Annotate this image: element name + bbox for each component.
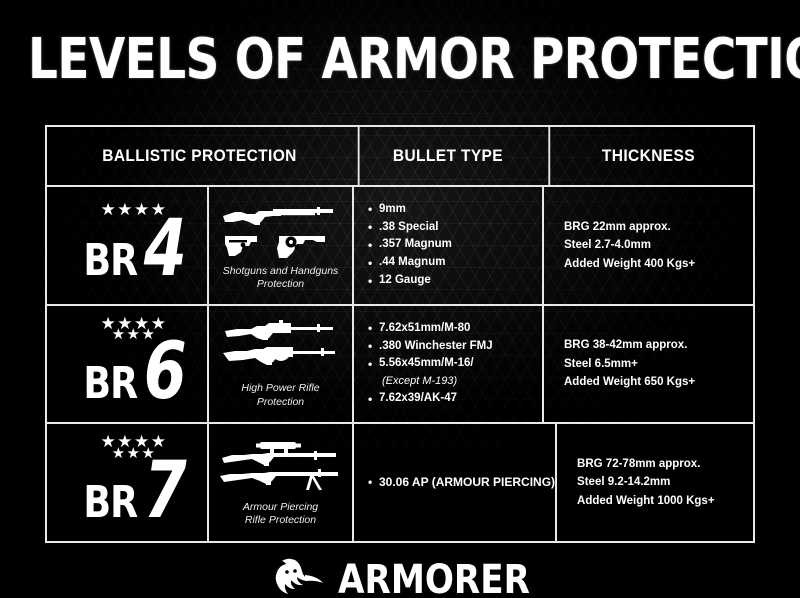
bullet-type-list: 7.62x51mm/M-80 .380 Winchester FMJ 5.56x… (368, 320, 542, 408)
list-item-note: (Except M-193) (368, 373, 542, 390)
br-level-label: BR 7 (81, 460, 187, 528)
weapon-caption-line1: Armour Piercing (243, 501, 318, 514)
list-item: 30.06 AP (ARMOUR PIERCING) (368, 473, 555, 492)
weapon-caption-line2: Rifle Protection (243, 514, 318, 527)
bullet-type-list: 30.06 AP (ARMOUR PIERCING) (368, 473, 555, 492)
column-header-bullet-type: BULLET TYPE (358, 127, 537, 185)
list-item: .357 Magnum (368, 236, 542, 254)
list-item: 9mm (368, 201, 542, 219)
br-level-number: 4 (144, 218, 184, 282)
column-header-thickness: THICKNESS (548, 127, 746, 185)
weapon-caption: Shotguns and Handguns Protection (223, 265, 339, 291)
list-item: 7.62x51mm/M-80 (368, 320, 542, 338)
thickness-cell: BRG 38-42mm approx. Steel 6.5mm+ Added W… (542, 306, 753, 423)
thickness-line: Steel 2.7-4.0mm (564, 236, 753, 254)
page-title: LEVELS OF ARMOR PROTECTION (28, 32, 772, 88)
list-item: .380 Winchester FMJ (368, 338, 542, 356)
column-header-ballistic-protection: BALLISTIC PROTECTION (56, 127, 343, 185)
br-level-number: 7 (144, 460, 184, 524)
thickness-line: Added Weight 650 Kgs+ (564, 373, 753, 391)
br-level-number: 6 (144, 341, 184, 405)
lion-head-icon (265, 557, 327, 598)
list-item: 7.62x39/AK-47 (368, 390, 542, 408)
weapon-illustration-cell: Armour Piercing Rifle Protection (207, 424, 352, 541)
weapon-illustration-cell: High Power Rifle Protection (207, 306, 352, 423)
bullet-type-cell: 9mm .38 Special .357 Magnum .44 Magnum 1… (352, 187, 542, 304)
rating-block: ★★★★ ★★★ BR 6 (47, 319, 207, 410)
bullet-type-list: 9mm .38 Special .357 Magnum .44 Magnum 1… (368, 201, 542, 290)
thickness-line: Added Weight 1000 Kgs+ (577, 492, 753, 510)
table-row: ★★★★ ★★★ BR 7 (47, 424, 753, 541)
thickness-line: BRG 22mm approx. (564, 218, 753, 236)
table-row: ★★★★ ★★★ BR 6 (47, 306, 753, 425)
weapon-caption-line1: Shotguns and Handguns (223, 265, 339, 278)
table-row: ★★★★ BR 4 (47, 187, 753, 306)
sniper-rifle-icon (218, 438, 343, 496)
list-item: 5.56x45mm/M-16/ (368, 355, 542, 373)
weapon-caption-line1: High Power Rifle (241, 382, 319, 395)
weapon-illustration-cell: Shotguns and Handguns Protection (207, 187, 352, 304)
br-level-label: BR 4 (81, 218, 187, 286)
weapon-caption: Armour Piercing Rifle Protection (243, 501, 318, 527)
ballistic-protection-cell: ★★★★ ★★★ BR 7 (47, 424, 352, 541)
ballistic-protection-cell: ★★★★ ★★★ BR 6 (47, 306, 352, 423)
table-header-row: BALLISTIC PROTECTION BULLET TYPE THICKNE… (47, 127, 753, 187)
footer-logo: ARMORER (0, 557, 800, 598)
br-prefix: BR (83, 235, 137, 286)
assault-rifle-icon (221, 319, 341, 377)
thickness-cell: BRG 22mm approx. Steel 2.7-4.0mm Added W… (542, 187, 753, 304)
weapon-caption: High Power Rifle Protection (241, 382, 319, 408)
bullet-type-cell: 30.06 AP (ARMOUR PIERCING) (352, 424, 555, 541)
shotgun-handguns-icon (221, 200, 341, 260)
thickness-cell: BRG 72-78mm approx. Steel 9.2-14.2mm Add… (555, 424, 753, 541)
br-prefix: BR (83, 477, 137, 528)
br-level-label: BR 6 (81, 341, 187, 409)
rating-block: ★★★★ BR 4 (47, 205, 207, 287)
list-item: .38 Special (368, 219, 542, 237)
weapon-caption-line2: Protection (223, 278, 339, 291)
list-item: .44 Magnum (368, 254, 542, 272)
ballistic-protection-cell: ★★★★ BR 4 (47, 187, 352, 304)
thickness-line: Steel 6.5mm+ (564, 355, 753, 373)
armor-levels-table: BALLISTIC PROTECTION BULLET TYPE THICKNE… (45, 125, 755, 543)
brand-name: ARMORER (338, 560, 530, 598)
thickness-line: BRG 72-78mm approx. (577, 455, 753, 473)
thickness-line: Steel 9.2-14.2mm (577, 473, 753, 491)
thickness-line: Added Weight 400 Kgs+ (564, 255, 753, 273)
thickness-line: BRG 38-42mm approx. (564, 336, 753, 354)
br-prefix: BR (83, 358, 137, 409)
rating-block: ★★★★ ★★★ BR 7 (47, 437, 207, 528)
list-item: 12 Gauge (368, 272, 542, 290)
bullet-type-cell: 7.62x51mm/M-80 .380 Winchester FMJ 5.56x… (352, 306, 542, 423)
weapon-caption-line2: Protection (241, 396, 319, 409)
infographic-page: LEVELS OF ARMOR PROTECTION BALLISTIC PRO… (0, 0, 800, 598)
